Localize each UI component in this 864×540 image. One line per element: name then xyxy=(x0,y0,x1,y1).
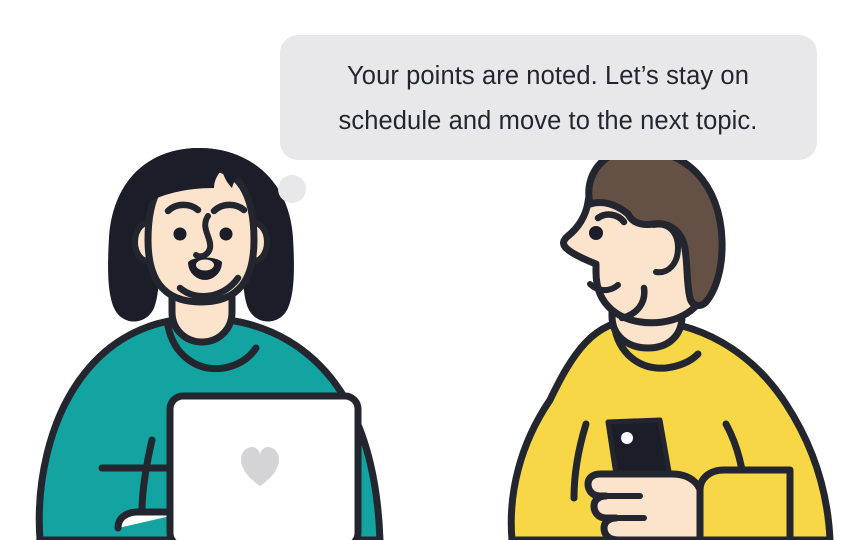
man-hand xyxy=(588,474,702,540)
speech-bubble-tail-dot xyxy=(278,175,306,203)
illustration-scene: Your points are noted. Let’s stay on sch… xyxy=(0,0,864,540)
man-sleeve-cuff xyxy=(700,470,790,540)
speech-bubble-line-1: Your points are noted. Let’s stay on xyxy=(347,62,749,90)
laptop xyxy=(170,396,358,540)
speech-bubble-body xyxy=(280,35,817,160)
phone-camera-dot xyxy=(621,432,633,444)
conversation-illustration: Your points are noted. Let’s stay on sch… xyxy=(0,0,864,540)
man-eye xyxy=(589,226,603,240)
speech-bubble-line-2: schedule and move to the next topic. xyxy=(339,107,758,135)
